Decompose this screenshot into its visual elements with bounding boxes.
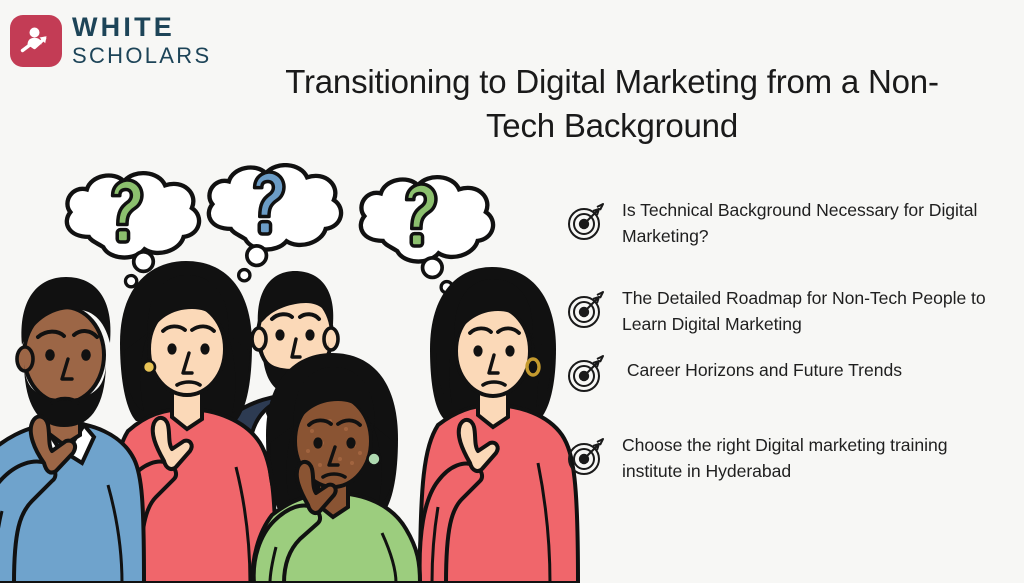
list-item-label: Career Horizons and Future Trends: [622, 350, 902, 384]
page-title: Transitioning to Digital Marketing from …: [262, 60, 962, 148]
thought-bubble-2: [209, 165, 341, 281]
list-item[interactable]: Choose the right Digital marketing train…: [566, 433, 986, 485]
target-bullseye-arrow-icon: [566, 202, 606, 242]
list-item[interactable]: The Detailed Roadmap for Non-Tech People…: [566, 286, 986, 338]
logo-mark: [10, 15, 62, 67]
target-bullseye-arrow-icon: [566, 437, 606, 477]
logo-text-white: WHITE: [72, 14, 211, 41]
list-item-label: Is Technical Background Necessary for Di…: [622, 198, 986, 250]
person-growth-arrow-icon: [19, 24, 53, 58]
list-item-label: Choose the right Digital marketing train…: [622, 433, 986, 485]
list-item-label: The Detailed Roadmap for Non-Tech People…: [622, 286, 986, 338]
logo-wordmark: WHITE SCHOLARS: [72, 14, 211, 67]
confused-people-illustration: [0, 163, 580, 583]
person-woman-coral-right: [420, 267, 578, 583]
person-woman-green-top: [252, 353, 420, 583]
target-bullseye-arrow-icon: [566, 354, 606, 394]
list-item[interactable]: Is Technical Background Necessary for Di…: [566, 198, 986, 250]
logo-text-scholars: SCHOLARS: [72, 45, 211, 67]
list-item[interactable]: Career Horizons and Future Trends: [566, 350, 986, 394]
brand-logo[interactable]: WHITE SCHOLARS: [10, 14, 211, 67]
target-bullseye-arrow-icon: [566, 290, 606, 330]
key-points-list: Is Technical Background Necessary for Di…: [566, 198, 986, 485]
